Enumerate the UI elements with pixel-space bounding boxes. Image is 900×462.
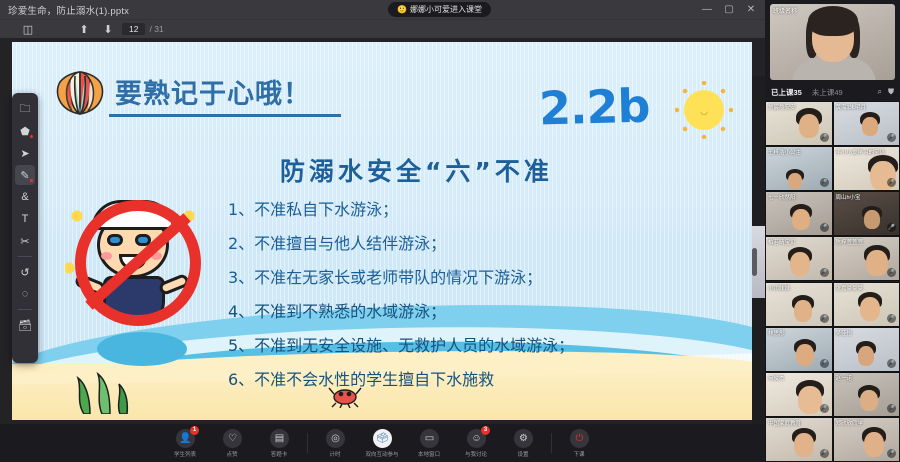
handwritten-annotation: 2.2b <box>538 79 650 136</box>
microphone-icon[interactable]: 🎤 <box>887 268 896 277</box>
pen-icon[interactable]: ✎ <box>15 165 35 185</box>
eraser-glyph: ◌ <box>22 288 29 300</box>
dock-local-window-label: 本地窗口 <box>418 449 440 457</box>
microphone-icon[interactable]: 🎤 <box>887 178 896 187</box>
undo-icon[interactable]: ↺ <box>15 262 35 282</box>
main-region: 珍爱生命，防止溺水(1).pptx 🙂 娜娜小可爱进入课堂 — ▢ ✕ ◫ ⬆ … <box>0 0 765 462</box>
tab-attended[interactable]: 已上课35 <box>771 87 802 98</box>
dock-interactive[interactable]: 🗳 双向互动参与 <box>359 424 406 462</box>
teacher-name-label: 班级名称 <box>773 6 797 15</box>
microphone-icon[interactable]: 🎤 <box>820 223 829 232</box>
student-tile[interactable]: 陈梓萱萱萱 🎤 <box>833 236 900 281</box>
dock-divider <box>307 433 308 453</box>
student-tile[interactable]: 何俊杰 🎤 <box>765 372 833 417</box>
dock-divider <box>551 433 552 453</box>
rule-item: 6、不准不会水性的学生擅自下水施救 <box>228 372 728 388</box>
total-pages-label: / 31 <box>149 24 163 34</box>
annotation-toolbar: 🗀 ⬟ ➤ ✎ & T ✂ ↺ ◌ 🗃 <box>12 93 38 363</box>
slide-canvas[interactable]: 要熟记于心哦！ 防溺水安全“六”不准 2.2b ◡ <box>12 42 752 420</box>
teacher-video-tile[interactable]: 班级名称 <box>770 4 895 80</box>
student-tile[interactable]: 柏若晴宝贝 🎤 <box>765 236 833 281</box>
student-name-label: 何俊杰 <box>768 374 785 382</box>
student-video-grid: 刘宸然安安 🎤 黄海1朱明月 🎤 王梓浩小公主 🎤 李小小爱学习的宝贝 <box>765 101 900 462</box>
microphone-icon[interactable]: 🎤 <box>887 314 896 323</box>
thumbnail-scrollbar-handle[interactable] <box>752 248 757 276</box>
microphone-icon[interactable]: 🎤 <box>820 404 829 413</box>
document-title: 珍爱生命，防止溺水(1).pptx <box>0 3 129 17</box>
window-controls: — ▢ ✕ <box>697 0 761 19</box>
student-tile[interactable]: 刘宸然安安 🎤 <box>765 101 833 146</box>
dock-end-class-label: 下课 <box>574 449 585 457</box>
online-classroom-app: 珍爱生命，防止溺水(1).pptx 🙂 娜娜小可爱进入课堂 — ▢ ✕ ◫ ⬆ … <box>0 0 900 462</box>
rule-item: 4、不准到不熟悉的水域游泳； <box>228 304 728 320</box>
toolbox-glyph: 🗃 <box>18 319 32 332</box>
text-icon[interactable]: T <box>15 209 35 229</box>
student-name-label: 陈梓萱萱萱 <box>836 238 864 246</box>
dock-praise[interactable]: ♡ 点赞 <box>209 424 256 462</box>
dock-student-list-label: 学生列表 <box>174 449 196 457</box>
student-name-label: 王梓浩小公主 <box>768 148 801 156</box>
student-tile[interactable]: 周山h小宝 🎤 <box>833 191 900 236</box>
bottom-dock: 👤 1 学生列表 ♡ 点赞 ▤ 答题卡 ◎ 计时 🗳 双向互动参与 <box>0 424 765 462</box>
undo-glyph: ↺ <box>20 266 29 279</box>
praise-icon: ♡ <box>223 429 242 448</box>
microphone-icon[interactable]: 🎤 <box>820 268 829 277</box>
rule-item: 3、不准在无家长或老师带队的情况下游泳； <box>228 270 728 286</box>
microphone-icon[interactable]: 🎤 <box>887 449 896 458</box>
student-name-label: 郑欣欣同学 <box>836 419 864 427</box>
student-tile[interactable]: 王梓浩小公主 🎤 <box>765 146 833 191</box>
student-tile[interactable]: 赵一诺 🎤 <box>833 372 900 417</box>
eraser-icon[interactable]: ◌ <box>15 284 35 304</box>
microphone-icon[interactable]: 🎤 <box>820 359 829 368</box>
student-name-label: 吴佳怡 <box>836 329 853 337</box>
timer-icon: ◎ <box>326 429 345 448</box>
join-notification-text: 娜娜小可爱进入课堂 <box>410 4 482 15</box>
minimize-button[interactable]: — <box>697 0 717 19</box>
student-tile[interactable]: 中国家庭教育 🎤 <box>765 417 833 462</box>
dock-timer[interactable]: ◎ 计时 <box>312 424 359 462</box>
dock-timer-label: 计时 <box>330 449 341 457</box>
gear-icon: ⚙ <box>514 429 533 448</box>
student-tile[interactable]: 七一欣然阳 🎤 <box>765 191 833 236</box>
student-tile[interactable]: 林思彤 🎤 <box>765 327 833 372</box>
shape-indicator-dot <box>30 135 33 138</box>
dock-settings[interactable]: ⚙ 设置 <box>500 424 547 462</box>
student-name-label: 张嘉豪豪豪 <box>836 284 864 292</box>
highlighter-icon[interactable]: & <box>15 187 35 207</box>
smiley-icon: 🙂 <box>397 5 407 14</box>
dock-discussion[interactable]: ☺ 3 与我讨论 <box>453 424 500 462</box>
dock-student-list[interactable]: 👤 1 学生列表 <box>162 424 209 462</box>
video-panel: 班级名称 已上课35 未上课49 ⌕ ⛊ 刘宸然安安 🎤 黄海1朱明月 🎤 <box>765 0 900 462</box>
student-tile[interactable]: 李小小爱学习的宝贝 🎤 <box>833 146 900 191</box>
microphone-icon[interactable]: 🎤 <box>820 449 829 458</box>
student-list-badge: 1 <box>190 426 199 435</box>
dock-local-window[interactable]: ▭ 本地窗口 <box>406 424 453 462</box>
folder-icon[interactable]: 🗀 <box>15 99 35 119</box>
dock-praise-label: 点赞 <box>227 449 238 457</box>
student-tile[interactable]: 郑欣欣同学 🎤 <box>833 417 900 462</box>
search-icon[interactable]: ⌕ <box>878 87 882 97</box>
seaweed-icon <box>72 368 132 414</box>
sun-decoration-icon: ◡ <box>684 90 724 130</box>
seashell-icon <box>52 70 108 116</box>
highlighter-glyph: & <box>21 191 28 203</box>
rule-item: 2、不准擅自与他人结伴游泳； <box>228 236 728 252</box>
microphone-icon[interactable]: 🎤 <box>887 223 896 232</box>
interactive-icon: 🗳 <box>373 429 392 448</box>
folder-glyph: 🗀 <box>20 100 31 119</box>
dock-settings-label: 设置 <box>518 449 529 457</box>
shape-glyph: ⬟ <box>20 125 30 138</box>
microphone-icon[interactable]: 🎤 <box>887 359 896 368</box>
scissors-glyph: ✂ <box>20 235 29 248</box>
student-name-label: 柏若晴宝贝 <box>768 238 796 246</box>
microphone-icon[interactable]: 🎤 <box>820 133 829 142</box>
dock-answer-card[interactable]: ▤ 答题卡 <box>256 424 303 462</box>
teacher-hair-top <box>808 6 858 36</box>
dock-discussion-label: 与我讨论 <box>465 449 487 457</box>
student-name-label: 中国家庭教育 <box>768 419 801 427</box>
join-notification-toast: 🙂 娜娜小可爱进入课堂 <box>388 2 491 17</box>
dock-interactive-label: 双向互动参与 <box>366 449 399 457</box>
cursor-icon[interactable]: ➤ <box>15 143 35 163</box>
student-name-label: 李小小爱学习的宝贝 <box>836 148 886 156</box>
toolbar-divider <box>18 256 32 257</box>
tab-not-attended[interactable]: 未上课49 <box>812 87 843 98</box>
heading-underline <box>109 114 341 117</box>
attendance-tabs: 已上课35 未上课49 ⌕ ⛊ <box>765 83 900 101</box>
title-bar: 珍爱生命，防止溺水(1).pptx 🙂 娜娜小可爱进入课堂 — ▢ ✕ <box>0 0 765 19</box>
student-name-label: 林思彤 <box>768 329 785 337</box>
student-name-label: 黄海1朱明月 <box>836 103 867 111</box>
current-page-input[interactable]: 12 <box>122 23 145 35</box>
shape-icon[interactable]: ⬟ <box>15 121 35 141</box>
water-splash-decoration <box>97 332 187 366</box>
dock-end-class[interactable]: ⏻ 下课 <box>556 424 603 462</box>
student-name-label: 七一欣然阳 <box>768 193 796 201</box>
sun-face-label: ◡ <box>692 105 716 117</box>
no-swimming-illustration <box>67 182 202 362</box>
rule-item: 5、不准到无安全设施、无救护人员的水域游泳； <box>228 338 728 354</box>
slide-subheading: 防溺水安全“六”不准 <box>280 152 553 188</box>
answer-card-icon: ▤ <box>270 429 289 448</box>
student-name-label: 小雨妹妹 <box>768 284 790 292</box>
microphone-icon[interactable]: 🎤 <box>887 133 896 142</box>
maximize-button[interactable]: ▢ <box>719 0 739 19</box>
student-tile[interactable]: 小雨妹妹 🎤 <box>765 282 833 327</box>
slide-heading: 要熟记于心哦！ <box>115 72 311 111</box>
prev-slide-icon[interactable]: ⬆ <box>72 20 96 39</box>
student-name-label: 赵一诺 <box>836 374 853 382</box>
microphone-icon[interactable]: 🎤 <box>820 314 829 323</box>
pen-glyph: ✎ <box>20 169 29 182</box>
student-tile[interactable]: 张嘉豪豪豪 🎤 <box>833 282 900 327</box>
student-name-label: 刘宸然安安 <box>768 103 796 111</box>
student-tile[interactable]: 吴佳怡 🎤 <box>833 327 900 372</box>
toolbar-divider <box>18 309 32 310</box>
layout-toggle-icon[interactable]: ◫ <box>16 20 40 39</box>
slide-thumbnail-rail[interactable] <box>752 76 765 462</box>
tab-icon-group: ⌕ ⛊ <box>878 87 894 97</box>
rule-item: 1、不准私自下水游泳； <box>228 202 728 218</box>
text-glyph: T <box>22 213 29 225</box>
rules-list: 1、不准私自下水游泳； 2、不准擅自与他人结伴游泳； 3、不准在无家长或老师带队… <box>228 202 728 406</box>
scissors-icon[interactable]: ✂ <box>15 231 35 251</box>
toolbox-icon[interactable]: 🗃 <box>15 315 35 335</box>
close-button[interactable]: ✕ <box>741 0 761 19</box>
slide-stage[interactable]: 要熟记于心哦！ 防溺水安全“六”不准 2.2b ◡ <box>0 38 765 424</box>
next-slide-icon[interactable]: ⬇ <box>96 20 120 39</box>
people-icon[interactable]: ⛊ <box>888 87 894 97</box>
microphone-icon[interactable]: 🎤 <box>887 404 896 413</box>
local-window-icon: ▭ <box>420 429 439 448</box>
cursor-glyph: ➤ <box>20 147 29 160</box>
power-icon: ⏻ <box>570 429 589 448</box>
dock-answer-card-label: 答题卡 <box>271 449 288 457</box>
slide-navigation-bar: ◫ ⬆ ⬇ 12 / 31 <box>0 19 765 38</box>
student-tile[interactable]: 黄海1朱明月 🎤 <box>833 101 900 146</box>
pen-indicator-dot <box>30 179 33 182</box>
discussion-badge: 3 <box>481 426 490 435</box>
student-name-label: 周山h小宝 <box>836 193 861 201</box>
microphone-icon[interactable]: 🎤 <box>820 178 829 187</box>
